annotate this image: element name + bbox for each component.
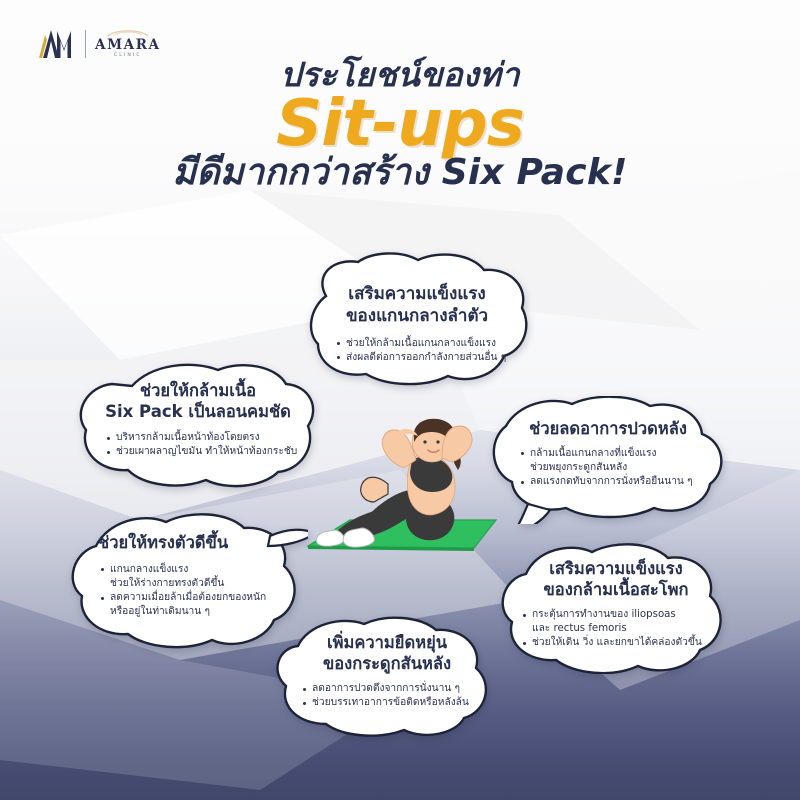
bubble-core-strength: เสริมความแข็งแรง ของแกนกลางลำตัว ช่วยให้…: [300, 252, 532, 386]
list-item: ลดความเมื่อยล้าเมื่อต้องยกของหนัก: [100, 591, 292, 605]
bubble-bullet-list: ลดอาการปวดตึงจากการนั่งนาน ๆ ช่วยบรรเทาอ…: [288, 682, 486, 710]
headline-line-3: มีดีมากกว่าสร้าง Six Pack!: [0, 153, 800, 193]
bubble-title: ช่วยให้กล้ามเนื้อ Six Pack เป็นลอนคมชัด: [96, 380, 300, 422]
bubble-content: เสริมความแข็งแรง ของแกนกลางลำตัว ช่วยให้…: [300, 252, 532, 365]
infographic-poster: AMARA CLINIC ประโยชน์ของท่า Sit-ups มีดี…: [0, 0, 800, 800]
bubble-title: เสริมความแข็งแรง ของแกนกลางลำตัว: [324, 284, 510, 328]
bubble-bullet-list: ช่วยให้กล้ามเนื้อแกนกลางแข็งแรง ส่งผลดีต…: [324, 337, 510, 365]
bubble-title-line-1: เสริมความแข็งแรง: [512, 558, 720, 579]
list-item: ลดอาการปวดตึงจากการนั่งนาน ๆ: [302, 682, 486, 696]
bubble-content: เสริมความแข็งแรง ของกล้ามเนื้อสะโพก กระต…: [492, 540, 736, 650]
bubble-bullet-list: บริหารกล้ามเนื้อหน้าท้องโดยตรง ช่วยเผาผล…: [96, 431, 300, 459]
list-item: ช่วยให้เดิน วิ่ง และยกขาได้คล่องตัวขึ้น: [522, 636, 720, 650]
situp-illustration: [292, 398, 514, 558]
page-title: ประโยชน์ของท่า Sit-ups มีดีมากกว่าสร้าง …: [0, 56, 800, 193]
bubble-title-line-2: ของแกนกลางลำตัว: [324, 306, 510, 328]
bubble-back-pain: ช่วยลดอาการปวดหลัง กล้ามเนื้อแกนกลางที่แ…: [484, 396, 730, 524]
list-item: กล้ามเนื้อแกนกลางที่แข็งแรง: [520, 447, 710, 461]
bubble-title: เพิ่มความยืดหยุ่น ของกระดูกสันหลัง: [288, 632, 486, 674]
brand-wordmark: AMARA CLINIC: [95, 29, 161, 59]
bubble-hip-muscles: เสริมความแข็งแรง ของกล้ามเนื้อสะโพก กระต…: [492, 540, 736, 674]
bubble-bullet-list: กระตุ้นการทำงานของ iliopsoas และ rectus …: [512, 608, 720, 650]
list-item: ช่วยให้กล้ามเนื้อแกนกลางแข็งแรง: [336, 337, 510, 351]
bubble-title-line-1: เพิ่มความยืดหยุ่น: [288, 632, 486, 653]
bubble-content: เพิ่มความยืดหยุ่น ของกระดูกสันหลัง ลดอาก…: [268, 616, 504, 710]
bubble-title: ช่วยให้ทรงตัวดีขึ้น: [88, 532, 292, 553]
bubble-title-line-1: ช่วยให้กล้ามเนื้อ: [96, 380, 300, 401]
list-item: แกนกลางแข็งแรง: [100, 563, 292, 577]
bubble-six-pack: ช่วยให้กล้ามเนื้อ Six Pack เป็นลอนคมชัด …: [72, 360, 316, 490]
bubble-content: ช่วยให้กล้ามเนื้อ Six Pack เป็นลอนคมชัด …: [72, 360, 316, 459]
bubble-bullet-list: กล้ามเนื้อแกนกลางที่แข็งแรง ช่วยพยุงกระด…: [506, 447, 710, 489]
list-item: ลดแรงกดทับจากการนั่งหรือยืนนาน ๆ: [520, 475, 710, 489]
headline-keyword: Sit-ups: [0, 92, 800, 157]
list-item-continuation: หรืออยู่ในท่าเดิมนาน ๆ: [100, 605, 292, 619]
bubble-bullet-list: แกนกลางแข็งแรง ช่วยให้ร่างกายทรงตัวดีขึ้…: [88, 563, 292, 619]
list-item: ช่วยเผาผลาญไขมัน ทำให้หน้าท้องกระชับ: [106, 445, 300, 459]
list-item-continuation: ช่วยให้ร่างกายทรงตัวดีขึ้น: [100, 577, 292, 591]
list-item: ส่งผลดีต่อการออกกำลังกายส่วนอื่น ๆ: [336, 351, 510, 365]
bubble-title-line-2: ของกระดูกสันหลัง: [288, 653, 486, 674]
list-item-continuation: และ rectus femoris: [522, 622, 720, 636]
bubble-title-line-1: เสริมความแข็งแรง: [324, 284, 510, 306]
list-item: ช่วยบรรเทาอาการข้อติดหรือหลังล้น: [302, 696, 486, 710]
list-item-continuation: ช่วยพยุงกระดูกสันหลัง: [520, 461, 710, 475]
list-item: กระตุ้นการทำงานของ iliopsoas: [522, 608, 720, 622]
bubble-title-line-2: Six Pack เป็นลอนคมชัด: [96, 401, 300, 422]
bubble-content: ช่วยให้ทรงตัวดีขึ้น แกนกลางแข็งแรง ช่วยใ…: [62, 512, 308, 619]
bubble-title: เสริมความแข็งแรง ของกล้ามเนื้อสะโพก: [512, 558, 720, 600]
bubble-title-line-2: ของกล้ามเนื้อสะโพก: [512, 579, 720, 600]
brand-name: AMARA: [95, 39, 161, 53]
bubble-content: ช่วยลดอาการปวดหลัง กล้ามเนื้อแกนกลางที่แ…: [484, 396, 730, 489]
list-item: บริหารกล้ามเนื้อหน้าท้องโดยตรง: [106, 431, 300, 445]
logo-divider: [85, 30, 86, 58]
bubble-spine-flexibility: เพิ่มความยืดหยุ่น ของกระดูกสันหลัง ลดอาก…: [268, 616, 504, 738]
bubble-title: ช่วยลดอาการปวดหลัง: [506, 418, 710, 439]
